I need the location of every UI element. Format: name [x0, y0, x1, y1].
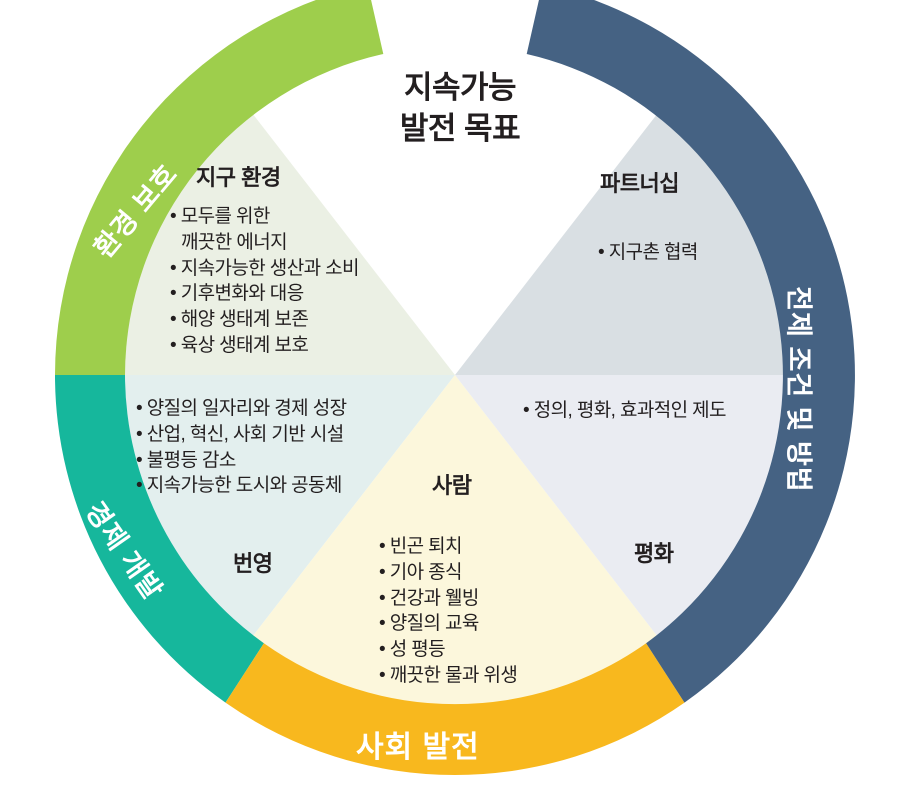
list-item: • 해양 생태계 보존 — [170, 307, 359, 333]
section-items-people: • 빈곤 퇴치 • 기아 종식 • 건강과 웰빙 • 양질의 교육 • 성 평등… — [379, 534, 517, 689]
section-heading-partnership: 파트너십 — [600, 166, 679, 198]
title-line-1: 지속가능 — [310, 68, 610, 109]
list-item: • 성 평등 — [379, 637, 517, 663]
list-item: 깨끗한 에너지 — [170, 230, 359, 256]
list-item: • 정의, 평화, 효과적인 제도 — [523, 398, 726, 424]
list-item: • 모두를 위한 — [170, 204, 359, 230]
section-heading-environment: 지구 환경 — [196, 160, 281, 192]
section-items-partnership: • 지구촌 협력 — [598, 240, 698, 266]
list-item: • 깨끗한 물과 위생 — [379, 663, 517, 689]
list-item: • 지속가능한 도시와 공동체 — [136, 473, 346, 499]
list-item: • 불평등 감소 — [136, 448, 346, 474]
list-item: • 빈곤 퇴치 — [379, 534, 517, 560]
ring-label-conditions: 전제 조건 및 방법 — [782, 286, 821, 492]
section-items-environment: • 모두를 위한 깨끗한 에너지 • 지속가능한 생산과 소비 • 기후변화와 … — [170, 204, 359, 359]
section-heading-prosperity: 번영 — [233, 546, 272, 578]
list-item: • 지속가능한 생산과 소비 — [170, 256, 359, 282]
list-item: • 기아 종식 — [379, 560, 517, 586]
ring-label-society: 사회 발전 — [356, 722, 480, 766]
list-item: • 기후변화와 대응 — [170, 281, 359, 307]
section-heading-people: 사람 — [432, 468, 471, 500]
list-item: • 지구촌 협력 — [598, 240, 698, 266]
list-item: • 육상 생태계 보호 — [170, 333, 359, 359]
section-items-prosperity: • 양질의 일자리와 경제 성장 • 산업, 혁신, 사회 기반 시설 • 불평… — [136, 396, 346, 499]
section-heading-peace: 평화 — [634, 536, 673, 568]
list-item: • 양질의 일자리와 경제 성장 — [136, 396, 346, 422]
list-item: • 산업, 혁신, 사회 기반 시설 — [136, 422, 346, 448]
list-item: • 양질의 교육 — [379, 611, 517, 637]
diagram-title: 지속가능 발전 목표 — [310, 68, 610, 150]
section-items-peace: • 정의, 평화, 효과적인 제도 — [523, 398, 726, 424]
list-item: • 건강과 웰빙 — [379, 586, 517, 612]
title-line-2: 발전 목표 — [310, 109, 610, 150]
sdg-diagram: 지속가능 발전 목표 지구 환경 • 모두를 위한 깨끗한 에너지 • 지속가능… — [0, 0, 911, 811]
